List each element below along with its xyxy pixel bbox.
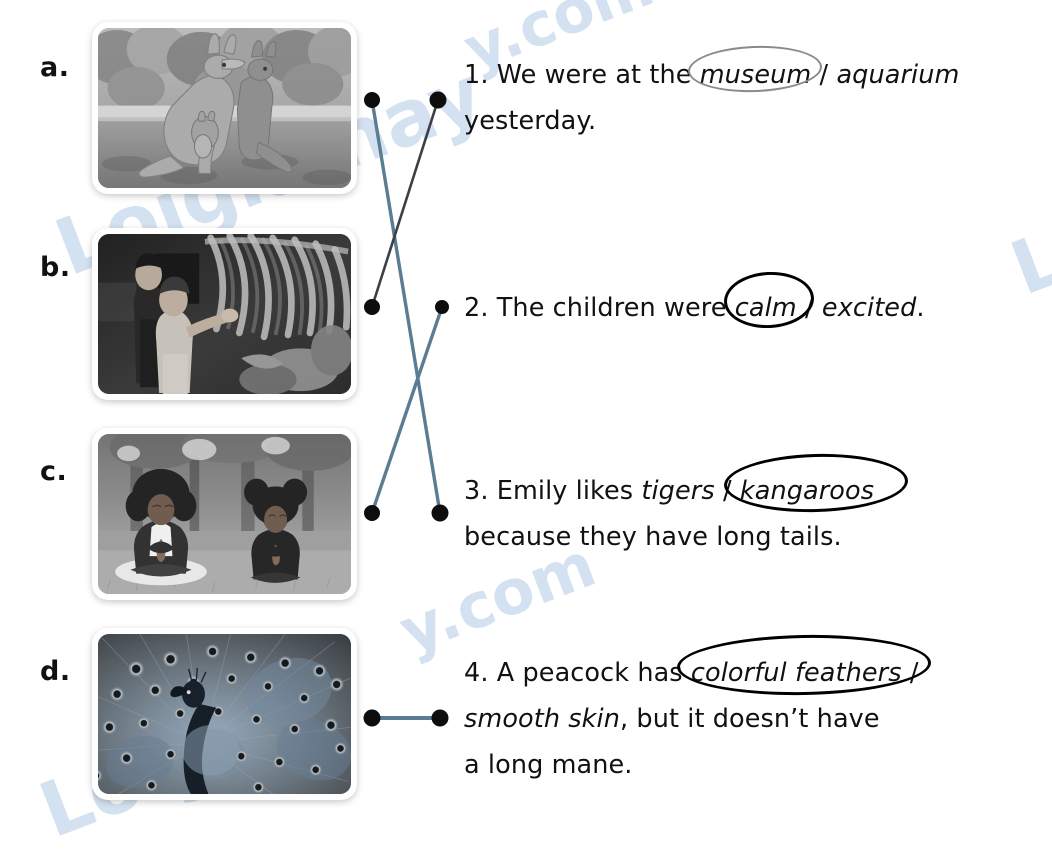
sentence-1-separator: / (820, 60, 829, 90)
museum-children-photo[interactable] (92, 228, 357, 400)
sentence-2-option-a-wrap[interactable]: calm (735, 285, 797, 331)
dot-sentence-2[interactable] (435, 300, 449, 314)
sentence-4-line3: a long mane. (464, 750, 633, 780)
sentence-2-option-b[interactable]: excited (822, 293, 916, 323)
peacock-photo-image (98, 634, 351, 794)
sentence-3-line2: because they have long tails. (464, 522, 842, 552)
sentence-4-before: A peacock has (497, 658, 683, 688)
line-c-to-2[interactable] (372, 307, 442, 513)
sentence-3-option-a[interactable]: tigers (641, 476, 714, 506)
dot-sentence-1[interactable] (430, 92, 447, 109)
sentence-1-line2: yesterday. (464, 106, 596, 136)
dot-d[interactable] (364, 710, 381, 727)
girls-meditating-photo-image (98, 434, 351, 594)
sentence-2-number: 2. (464, 293, 489, 323)
worksheet-page: Loigiaihay y.com y.com L Loigia a. b. c.… (0, 0, 1052, 818)
sentence-2-after: . (916, 293, 924, 323)
dot-c[interactable] (364, 505, 380, 521)
kangaroo-photo[interactable] (92, 22, 357, 194)
item-letter-b: b. (40, 252, 71, 283)
museum-children-photo-image (98, 234, 351, 394)
sentence-4[interactable]: 4. A peacock has colorful feathers / smo… (464, 650, 1024, 788)
sentence-3-option-b-wrap[interactable]: kangaroos (740, 468, 874, 514)
sentence-2-separator: / (805, 293, 814, 323)
sentence-4-after: , but it doesn’t have (620, 704, 880, 734)
sentence-4-number: 4. (464, 658, 489, 688)
sentence-1-number: 1. (464, 60, 489, 90)
sentence-4-option-a-wrap[interactable]: colorful feathers (691, 650, 902, 696)
sentence-1-option-b[interactable]: aquarium (836, 60, 959, 90)
sentence-1-option-a[interactable]: museum (700, 60, 812, 90)
line-b-to-1[interactable] (372, 100, 438, 307)
sentence-4-option-b[interactable]: smooth skin (464, 704, 620, 734)
sentence-3-number: 3. (464, 476, 489, 506)
sentence-2-before: The children were (497, 293, 727, 323)
kangaroo-photo-image (98, 28, 351, 188)
dot-sentence-4[interactable] (432, 710, 449, 727)
item-letter-a: a. (40, 52, 69, 83)
sentence-4-option-a[interactable]: colorful feathers (691, 658, 902, 688)
peacock-photo[interactable] (92, 628, 357, 800)
sentence-3-option-b[interactable]: kangaroos (740, 476, 874, 506)
dot-b[interactable] (364, 299, 380, 315)
sentence-1[interactable]: 1. We were at the museum / aquarium yest… (464, 52, 1024, 144)
dot-sentence-3[interactable] (432, 505, 449, 522)
sentence-3-before: Emily likes (497, 476, 633, 506)
girls-meditating-photo[interactable] (92, 428, 357, 600)
sentence-1-option-a-wrap[interactable]: museum (700, 52, 812, 98)
sentence-2-option-a[interactable]: calm (735, 293, 797, 323)
dot-a[interactable] (364, 92, 380, 108)
sentence-3-separator: / (723, 476, 732, 506)
sentence-1-before: We were at the (497, 60, 692, 90)
sentence-2[interactable]: 2. The children were calm / excited. (464, 285, 1024, 331)
sentence-4-separator: / (910, 658, 919, 688)
line-a-to-3[interactable] (372, 100, 440, 513)
item-letter-d: d. (40, 656, 71, 687)
item-letter-c: c. (40, 456, 67, 487)
sentence-3[interactable]: 3. Emily likes tigers / kangaroos becaus… (464, 468, 1024, 560)
